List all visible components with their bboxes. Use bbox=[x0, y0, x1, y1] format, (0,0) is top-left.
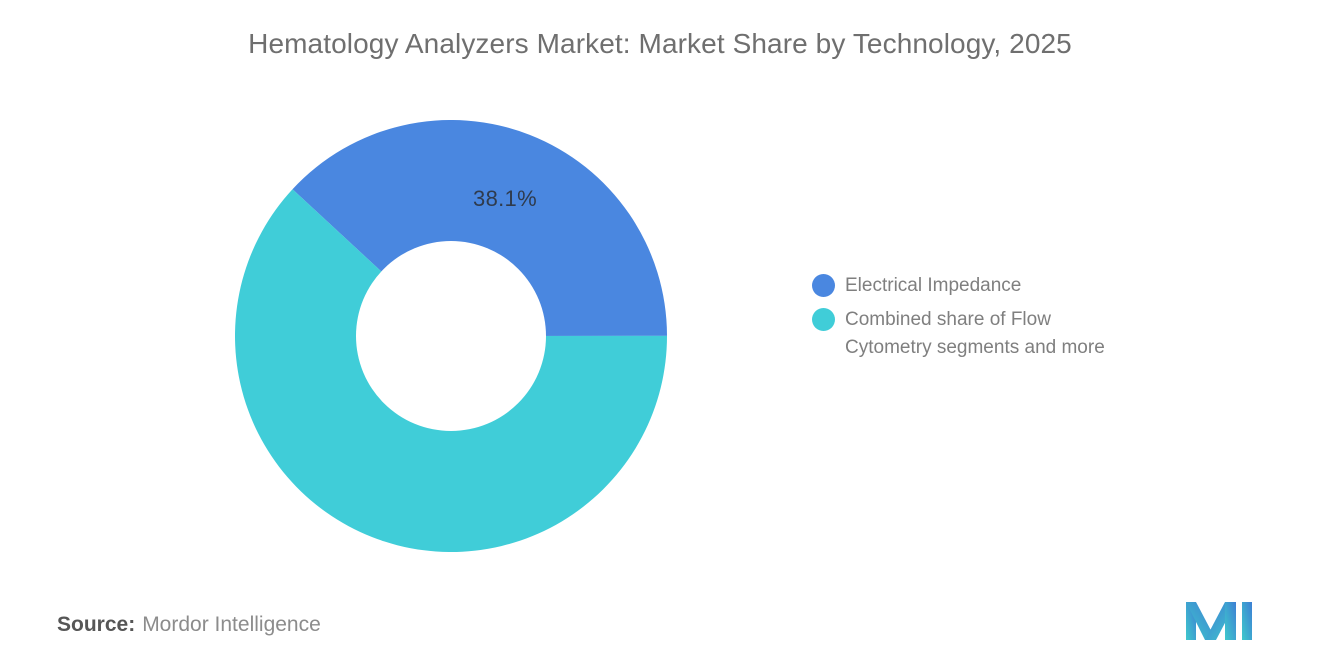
donut-chart-svg bbox=[235, 120, 667, 552]
chart-legend: Electrical Impedance Combined share of F… bbox=[812, 272, 1232, 368]
source-name: Mordor Intelligence bbox=[142, 613, 321, 636]
source-attribution: Source:Mordor Intelligence bbox=[57, 613, 321, 637]
legend-item-label: Electrical Impedance bbox=[845, 272, 1021, 300]
page-title: Hematology Analyzers Market: Market Shar… bbox=[0, 28, 1320, 60]
legend-color-swatch-icon bbox=[812, 274, 835, 297]
mordor-intelligence-logo-icon bbox=[1186, 598, 1252, 640]
donut-center-hole bbox=[356, 241, 546, 431]
legend-color-swatch-icon bbox=[812, 308, 835, 331]
source-label: Source: bbox=[57, 613, 135, 636]
slice-value-label-electrical-impedance: 38.1% bbox=[452, 186, 558, 212]
logo-svg bbox=[1186, 598, 1252, 640]
legend-item-label: Combined share of Flow Cytometry segment… bbox=[845, 306, 1107, 362]
donut-chart bbox=[235, 120, 667, 552]
legend-item-electrical-impedance[interactable]: Electrical Impedance bbox=[812, 272, 1232, 300]
chart-page: Hematology Analyzers Market: Market Shar… bbox=[0, 0, 1320, 665]
legend-item-flow-cytometry-combined[interactable]: Combined share of Flow Cytometry segment… bbox=[812, 306, 1232, 362]
